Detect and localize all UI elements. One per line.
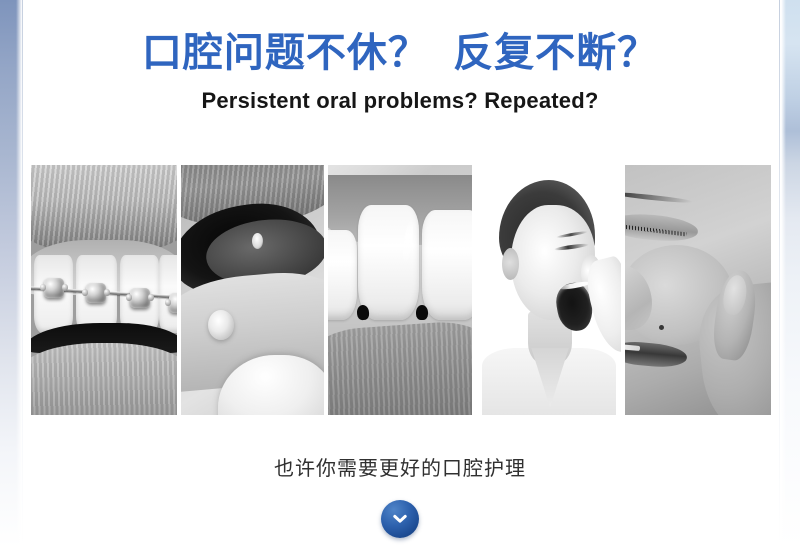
bad-breath-check-photo: [476, 165, 622, 415]
tooth-shape: [328, 230, 357, 320]
brace-bracket-shape: [86, 283, 106, 303]
lower-lip-shape: [328, 319, 472, 415]
tooth-shape: [422, 210, 472, 320]
brace-bracket-shape: [130, 288, 150, 308]
interdental-gap-shape: [356, 305, 369, 321]
braces-teeth-photo: [31, 165, 177, 415]
gallery-caption: 也许你需要更好的口腔护理: [0, 452, 800, 481]
mole-shape: [659, 325, 664, 330]
scroll-down-button[interactable]: [381, 500, 419, 538]
front-teeth-photo: [328, 165, 472, 415]
page-title-chinese: 口腔问题不休？ 反复不断？: [0, 30, 800, 76]
interdental-gap-shape: [416, 305, 428, 320]
toothache-cheek-photo: [625, 165, 771, 415]
chevron-down-icon: [390, 509, 410, 529]
brace-bracket-shape: [169, 293, 176, 313]
page-subtitle-english: Persistent oral problems? Repeated?: [0, 88, 800, 114]
teeth-row-shape: [625, 344, 640, 351]
mouth-ulcer-photo: [181, 165, 325, 415]
lower-lip-shape: [31, 343, 177, 416]
photo-gallery-strip: [31, 165, 771, 415]
hero-heading-block: 口腔问题不休？ 反复不断？ Persistent oral problems? …: [0, 30, 800, 114]
brace-bracket-shape: [44, 278, 64, 298]
ulcer-shape: [208, 310, 234, 340]
